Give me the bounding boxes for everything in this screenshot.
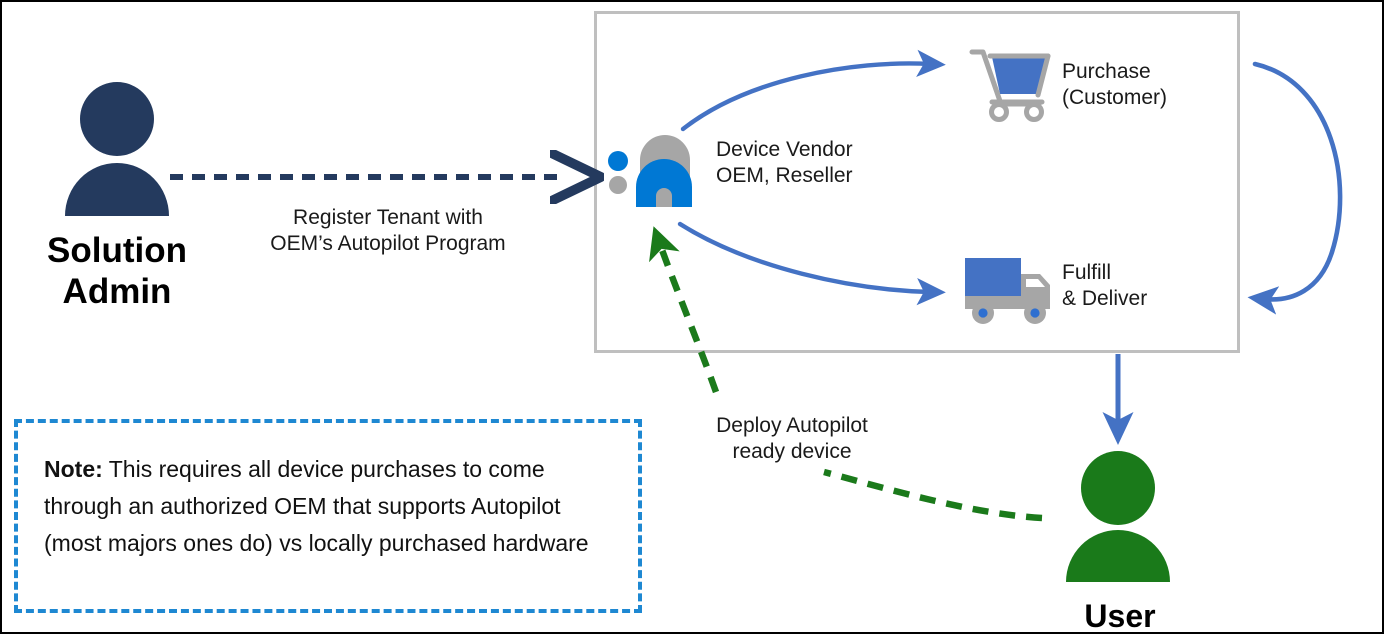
note-callout-box: Note: This requires all device purchases… — [14, 419, 642, 613]
purchase-to-fulfill-loop-arrow — [1255, 64, 1340, 299]
user-label: User — [1032, 597, 1208, 634]
note-text: Note: This requires all device purchases… — [44, 451, 624, 562]
device-vendor-label: Device Vendor OEM, Reseller — [716, 137, 956, 189]
note-prefix: Note: — [44, 456, 103, 482]
diagram-canvas: Solution Admin Register Tenant with OEM’… — [0, 0, 1384, 634]
purchase-label: Purchase (Customer) — [1062, 59, 1252, 111]
deploy-autopilot-connector-label: Deploy Autopilot ready device — [692, 413, 892, 465]
solution-admin-person-icon — [65, 82, 169, 216]
solution-admin-label: Solution Admin — [16, 230, 218, 312]
fulfill-deliver-label: Fulfill & Deliver — [1062, 260, 1252, 312]
register-tenant-connector-label: Register Tenant with OEM’s Autopilot Pro… — [253, 205, 523, 257]
user-person-icon — [1066, 451, 1170, 582]
note-body: This requires all device purchases to co… — [44, 456, 589, 556]
